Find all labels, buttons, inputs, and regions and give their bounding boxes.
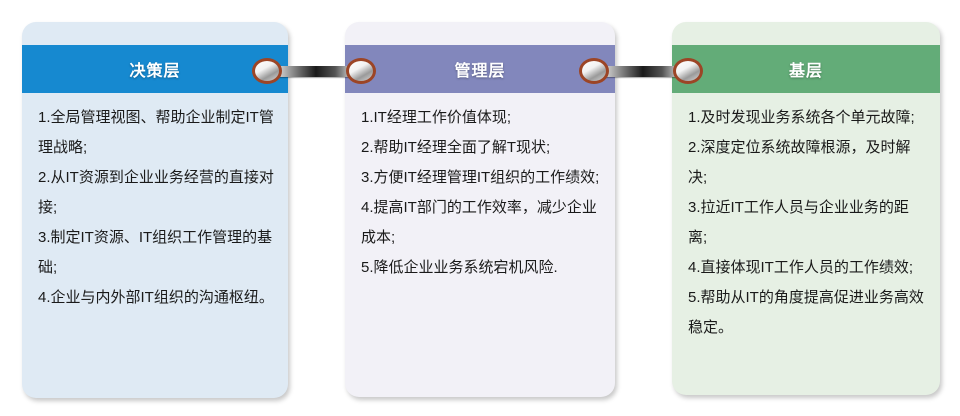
list-item: 2.从IT资源到企业业务经营的直接对接; <box>38 163 274 223</box>
diagram-canvas: 决策层 1.全局管理视图、帮助企业制定IT管理战略; 2.从IT资源到企业业务经… <box>0 0 960 416</box>
list-item: 3.制定IT资源、IT组织工作管理的基础; <box>38 223 274 283</box>
list-item: 4.企业与内外部IT组织的沟通枢纽。 <box>38 283 274 313</box>
panel-header-management-layer: 管理层 <box>345 45 615 93</box>
list-item: 4.直接体现IT工作人员的工作绩效; <box>688 253 926 283</box>
panel-frontline-layer[interactable]: 基层 1.及时发现业务系统各个单元故障; 2.深度定位系统故障根源，及时解决; … <box>672 22 940 395</box>
connector-ring-left <box>252 58 282 84</box>
list-item: 3.方便IT经理管理IT组织的工作绩效; <box>361 163 601 193</box>
panel-decision-layer[interactable]: 决策层 1.全局管理视图、帮助企业制定IT管理战略; 2.从IT资源到企业业务经… <box>22 22 288 398</box>
list-item: 2.帮助IT经理全面了解T现状; <box>361 133 601 163</box>
panel-body-management-layer: 1.IT经理工作价值体现; 2.帮助IT经理全面了解T现状; 3.方便IT经理管… <box>345 93 615 397</box>
list-item: 5.帮助从IT的角度提高促进业务高效稳定。 <box>688 283 926 343</box>
list-item: 2.深度定位系统故障根源，及时解决; <box>688 133 926 193</box>
panel-management-layer[interactable]: 管理层 1.IT经理工作价值体现; 2.帮助IT经理全面了解T现状; 3.方便I… <box>345 22 615 397</box>
connector-ring-right <box>346 58 376 84</box>
panel-body-decision-layer: 1.全局管理视图、帮助企业制定IT管理战略; 2.从IT资源到企业业务经营的直接… <box>22 93 288 398</box>
connector-ring-left <box>579 58 609 84</box>
list-item: 4.提高IT部门的工作效率，减少企业成本; <box>361 193 601 253</box>
list-item: 1.全局管理视图、帮助企业制定IT管理战略; <box>38 103 274 163</box>
list-item: 5.降低企业业务系统宕机风险. <box>361 253 601 283</box>
list-item: 1.IT经理工作价值体现; <box>361 103 601 133</box>
list-item: 3.拉近IT工作人员与企业业务的距离; <box>688 193 926 253</box>
list-item: 1.及时发现业务系统各个单元故障; <box>688 103 926 133</box>
panel-header-frontline-layer: 基层 <box>672 45 940 93</box>
panel-title-decision-layer: 决策层 <box>129 57 180 81</box>
panel-header-decision-layer: 决策层 <box>22 45 288 93</box>
connector-ring-right <box>673 58 703 84</box>
panel-title-frontline-layer: 基层 <box>789 57 823 81</box>
panel-body-frontline-layer: 1.及时发现业务系统各个单元故障; 2.深度定位系统故障根源，及时解决; 3.拉… <box>672 93 940 395</box>
dumbbell-link-icon <box>579 58 703 84</box>
dumbbell-link-icon <box>252 58 376 84</box>
panel-title-management-layer: 管理层 <box>454 57 505 81</box>
